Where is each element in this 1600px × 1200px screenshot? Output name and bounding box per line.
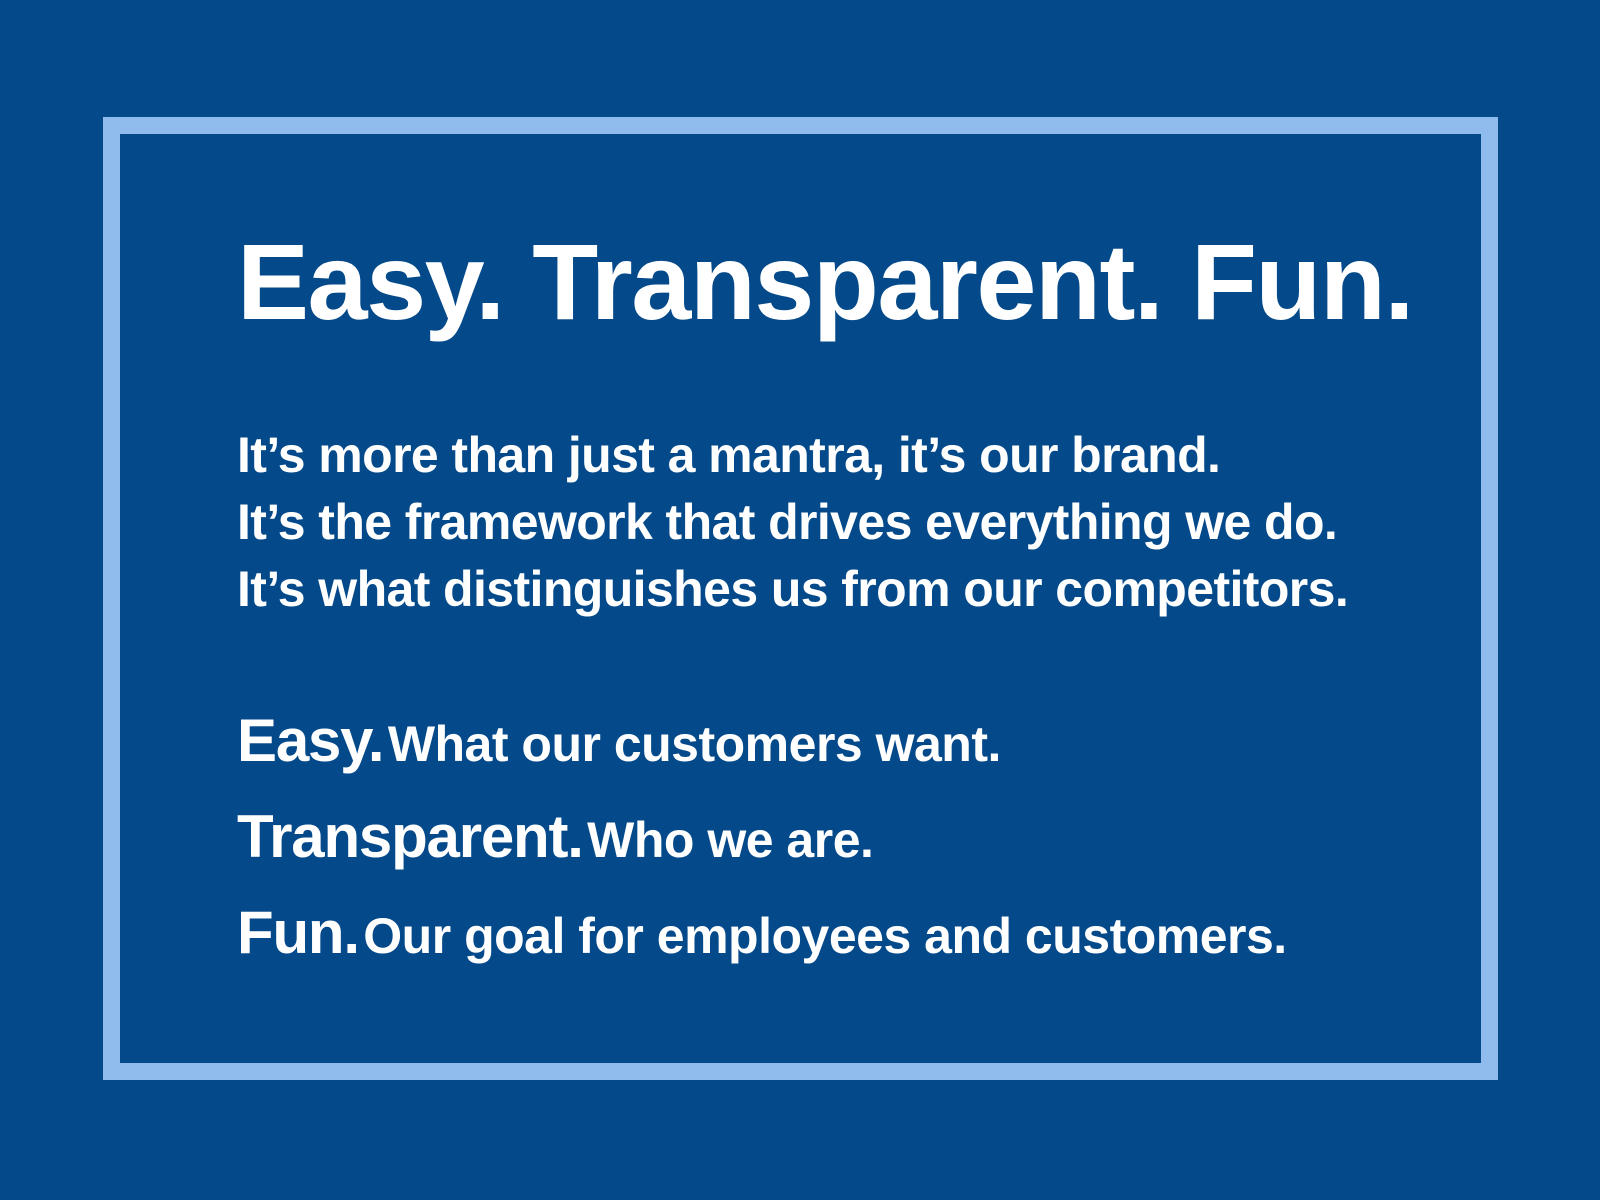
tagline-term-easy: Easy. bbox=[237, 707, 383, 774]
intro-paragraph: It’s more than just a mantra, it’s our b… bbox=[237, 336, 1397, 623]
slide-canvas: Easy. Transparent. Fun. It’s more than j… bbox=[0, 0, 1600, 1200]
tagline-list: Easy. What our customers want. Transpare… bbox=[237, 623, 1397, 989]
intro-paragraph-line-2: It’s the framework that drives everythin… bbox=[237, 489, 1397, 556]
tagline-term-fun: Fun. bbox=[237, 899, 359, 966]
intro-paragraph-line-3: It’s what distinguishes us from our comp… bbox=[237, 556, 1397, 623]
tagline-description-transparent: Who we are. bbox=[587, 812, 873, 868]
tagline-item-easy: Easy. What our customers want. bbox=[237, 701, 1397, 797]
tagline-description-easy: What our customers want. bbox=[388, 716, 1001, 772]
tagline-description-fun: Our goal for employees and customers. bbox=[363, 908, 1286, 964]
intro-paragraph-line-1: It’s more than just a mantra, it’s our b… bbox=[237, 422, 1397, 489]
page-title: Easy. Transparent. Fun. bbox=[237, 228, 1397, 336]
tagline-term-transparent: Transparent. bbox=[237, 803, 583, 870]
tagline-item-transparent: Transparent. Who we are. bbox=[237, 797, 1397, 893]
tagline-item-fun: Fun. Our goal for employees and customer… bbox=[237, 893, 1397, 989]
slide-content: Easy. Transparent. Fun. It’s more than j… bbox=[237, 228, 1397, 989]
